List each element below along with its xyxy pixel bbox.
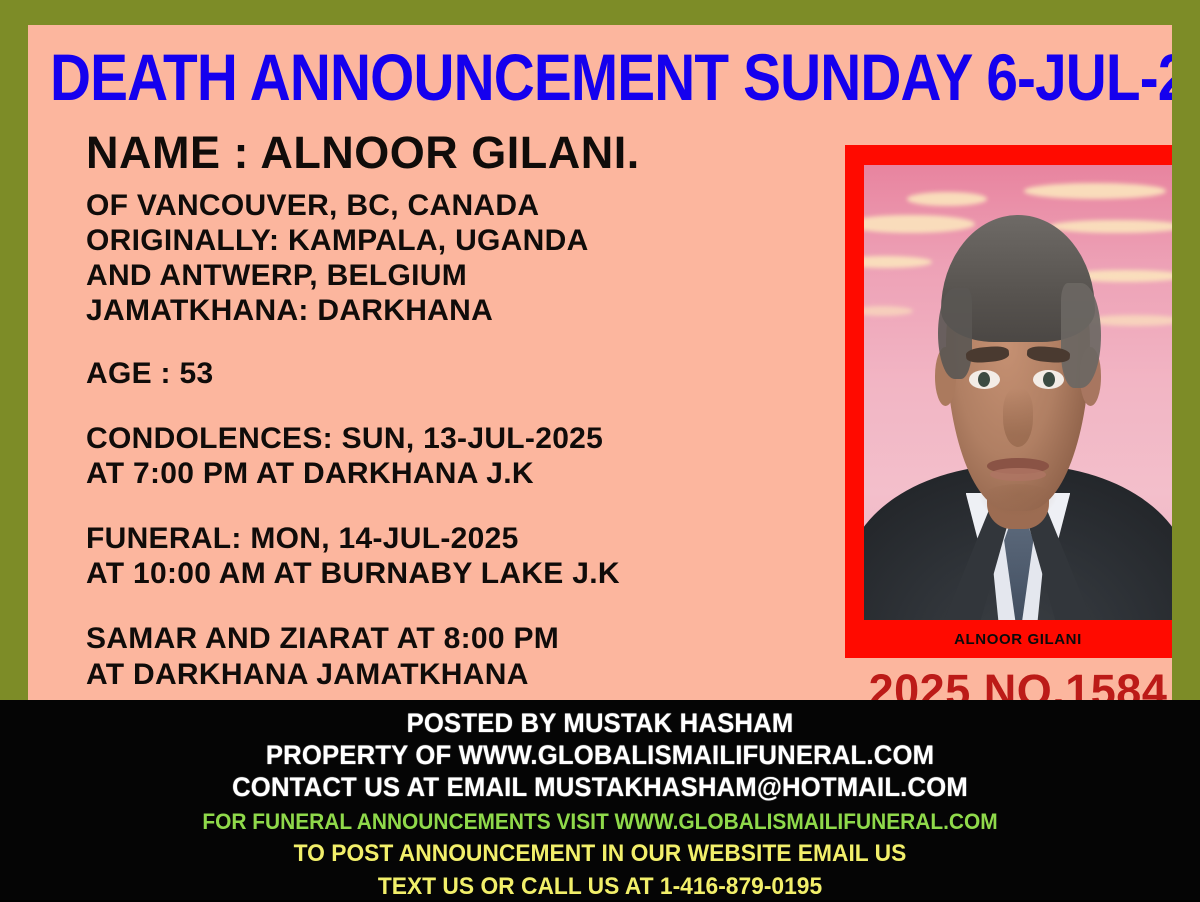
origin-block: OF VANCOUVER, BC, CANADA ORIGINALLY: KAM… bbox=[86, 188, 826, 328]
photo-frame: ALNOOR GILANI bbox=[845, 145, 1172, 658]
chin bbox=[978, 484, 1058, 520]
funeral-line-2: AT 10:00 AM AT BURNABY LAKE J.K bbox=[86, 556, 826, 591]
person-figure bbox=[864, 165, 1172, 620]
nose bbox=[1003, 388, 1034, 447]
poster-header: DEATH ANNOUNCEMENT SUNDAY 6-JUL-2025 bbox=[50, 37, 1160, 117]
spacer-2 bbox=[86, 391, 826, 421]
origin-line-3: AND ANTWERP, BELGIUM bbox=[86, 258, 826, 293]
samar-line-1: SAMAR AND ZIARAT AT 8:00 PM bbox=[86, 621, 826, 656]
footer-phone: TEXT US OR CALL US AT 1-416-879-0195 bbox=[30, 872, 1170, 902]
origin-line-1: OF VANCOUVER, BC, CANADA bbox=[86, 188, 826, 223]
lower-lip bbox=[990, 468, 1045, 482]
spacer-1 bbox=[86, 328, 826, 356]
deceased-name: NAME : ALNOOR GILANI. bbox=[86, 129, 826, 178]
announcement-number: 2025 NO.1584 bbox=[845, 665, 1172, 700]
hair-side-right bbox=[1061, 283, 1101, 388]
header-title: DEATH ANNOUNCEMENT SUNDAY 6-JUL-2025 bbox=[50, 44, 1172, 110]
death-announcement-poster: DEATH ANNOUNCEMENT SUNDAY 6-JUL-2025 NAM… bbox=[0, 0, 1200, 900]
origin-line-4: JAMATKHANA: DARKHANA bbox=[86, 293, 826, 328]
hair-side-left bbox=[938, 288, 972, 379]
footer-posted-by: POSTED BY MUSTAK HASHAM bbox=[30, 708, 1170, 740]
funeral-block: FUNERAL: MON, 14-JUL-2025 AT 10:00 AM AT… bbox=[86, 521, 826, 591]
spacer-3 bbox=[86, 491, 826, 521]
photo-caption: ALNOOR GILANI bbox=[845, 631, 1172, 648]
samar-line-2: AT DARKHANA JAMATKHANA bbox=[86, 657, 826, 692]
funeral-line-1: FUNERAL: MON, 14-JUL-2025 bbox=[86, 521, 826, 556]
portrait-photo bbox=[864, 165, 1172, 620]
samar-block: SAMAR AND ZIARAT AT 8:00 PM AT DARKHANA … bbox=[86, 621, 826, 691]
condolences-line-2: AT 7:00 PM AT DARKHANA J.K bbox=[86, 456, 826, 491]
footer-property-of: PROPERTY OF WWW.GLOBALISMAILIFUNERAL.COM bbox=[30, 740, 1170, 772]
announcement-body: NAME : ALNOOR GILANI. OF VANCOUVER, BC, … bbox=[86, 129, 826, 692]
condolences-line-1: CONDOLENCES: SUN, 13-JUL-2025 bbox=[86, 421, 826, 456]
origin-line-2: ORIGINALLY: KAMPALA, UGANDA bbox=[86, 223, 826, 258]
poster-footer: POSTED BY MUSTAK HASHAM PROPERTY OF WWW.… bbox=[0, 700, 1200, 900]
footer-post-announcement: TO POST ANNOUNCEMENT IN OUR WEBSITE EMAI… bbox=[30, 839, 1170, 869]
footer-contact-email: CONTACT US AT EMAIL MUSTAKHASHAM@HOTMAIL… bbox=[30, 772, 1170, 804]
age-line: AGE : 53 bbox=[86, 356, 826, 391]
footer-announcements-visit: FOR FUNERAL ANNOUNCEMENTS VISIT WWW.GLOB… bbox=[30, 808, 1170, 837]
pupil-right bbox=[1043, 372, 1055, 387]
announcement-panel: DEATH ANNOUNCEMENT SUNDAY 6-JUL-2025 NAM… bbox=[28, 25, 1172, 700]
condolences-block: CONDOLENCES: SUN, 13-JUL-2025 AT 7:00 PM… bbox=[86, 421, 826, 491]
spacer-4 bbox=[86, 591, 826, 621]
